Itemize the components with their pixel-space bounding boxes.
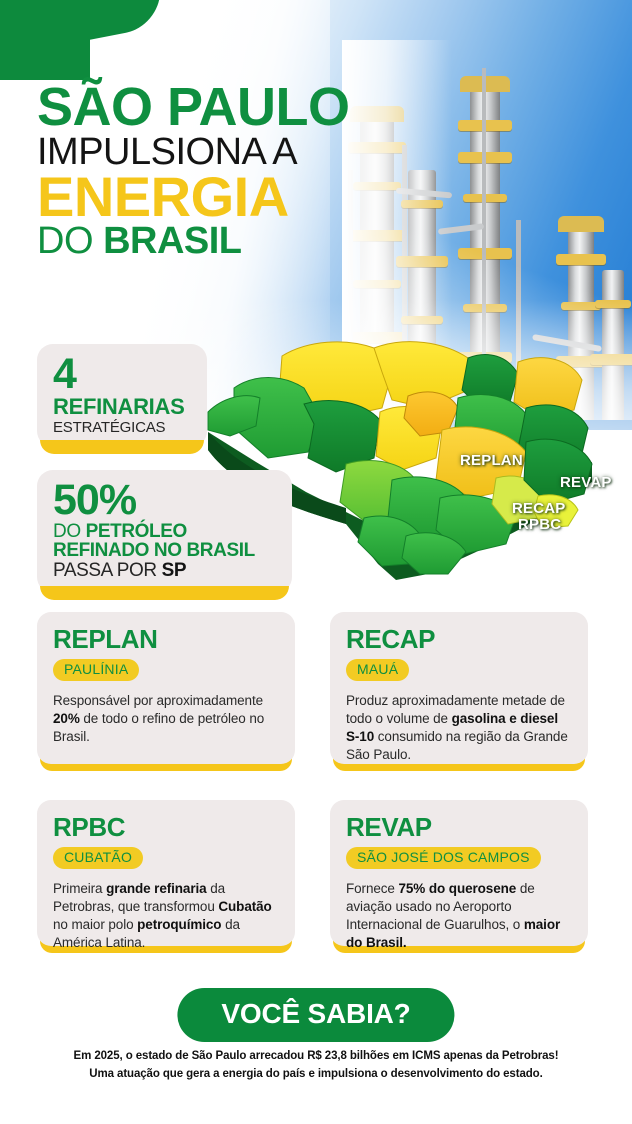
map-label-recap: RECAP [512, 500, 566, 517]
stat-box-petroleo: 50% DO PETRÓLEO REFINADO NO BRASIL PASSA… [37, 470, 292, 593]
stat-line-do-petroleo: DO PETRÓLEO [53, 522, 276, 542]
card-title: RPBC [53, 814, 279, 840]
map-label-rpbc: RPBC [518, 516, 561, 533]
card-recap[interactable]: RECAP MAUÁ Produz aproximadamente metade… [330, 612, 588, 764]
stat-line-passa-por-sp: PASSA POR SP [53, 561, 276, 581]
stat-number-50: 50% [53, 481, 276, 521]
page-title: SÃO PAULO IMPULSIONA A ENERGIA DO BRASIL [37, 83, 350, 259]
stat-number-4: 4 [53, 355, 191, 395]
title-do: DO [37, 220, 103, 262]
card-body: Responsável por aproximadamente 20% de t… [53, 692, 279, 746]
card-city-badge: MAUÁ [346, 659, 409, 681]
card-title: REVAP [346, 814, 572, 840]
stat-word-do: DO [53, 521, 86, 542]
footer-line-2: Uma atuação que gera a energia do país e… [0, 1066, 632, 1084]
card-replan[interactable]: REPLAN PAULÍNIA Responsável por aproxima… [37, 612, 295, 764]
title-line-sao-paulo: SÃO PAULO [37, 83, 350, 133]
card-body: Primeira grande refinaria da Petrobras, … [53, 880, 279, 952]
infographic-page: SÃO PAULO IMPULSIONA A ENERGIA DO BRASIL [0, 0, 632, 1124]
map-label-revap: REVAP [560, 474, 612, 491]
footer-line-1: Em 2025, o estado de São Paulo arrecadou… [0, 1048, 632, 1066]
stat-word-sp: SP [162, 560, 187, 581]
voce-sabia-button[interactable]: VOCÊ SABIA? [177, 988, 454, 1042]
card-city-badge: SÃO JOSÉ DOS CAMPOS [346, 847, 541, 869]
card-rpbc[interactable]: RPBC CUBATÃO Primeira grande refinaria d… [37, 800, 295, 946]
card-city-badge: CUBATÃO [53, 847, 143, 869]
card-title: REPLAN [53, 626, 279, 652]
stat-word-petroleo: PETRÓLEO [86, 521, 187, 542]
refinery-cards: REPLAN PAULÍNIA Responsável por aproxima… [0, 612, 632, 988]
stat-label-refinarias: REFINARIAS [53, 396, 191, 418]
stat-words-passa-por: PASSA POR [53, 560, 162, 581]
map-label-replan: REPLAN [460, 452, 523, 469]
title-brasil: BRASIL [103, 220, 241, 262]
title-line-energia: ENERGIA [37, 171, 350, 223]
card-body: Produz aproximadamente metade de todo o … [346, 692, 572, 764]
stat-line-refinado: REFINADO NO BRASIL [53, 541, 276, 561]
stat-label-estrategicas: ESTRATÉGICAS [53, 420, 191, 436]
card-city-badge: PAULÍNIA [53, 659, 139, 681]
card-revap[interactable]: REVAP SÃO JOSÉ DOS CAMPOS Fornece 75% do… [330, 800, 588, 946]
corner-banner-fill [0, 0, 90, 80]
footer-note: Em 2025, o estado de São Paulo arrecadou… [0, 1048, 632, 1084]
card-title: RECAP [346, 626, 572, 652]
stat-box-refinarias: 4 REFINARIAS ESTRATÉGICAS [37, 344, 207, 447]
title-line-do-brasil: DO BRASIL [37, 224, 350, 259]
card-row-bottom: RPBC CUBATÃO Primeira grande refinaria d… [0, 800, 632, 988]
card-body: Fornece 75% do querosene de aviação usad… [346, 880, 572, 952]
card-row-top: REPLAN PAULÍNIA Responsável por aproxima… [0, 612, 632, 800]
